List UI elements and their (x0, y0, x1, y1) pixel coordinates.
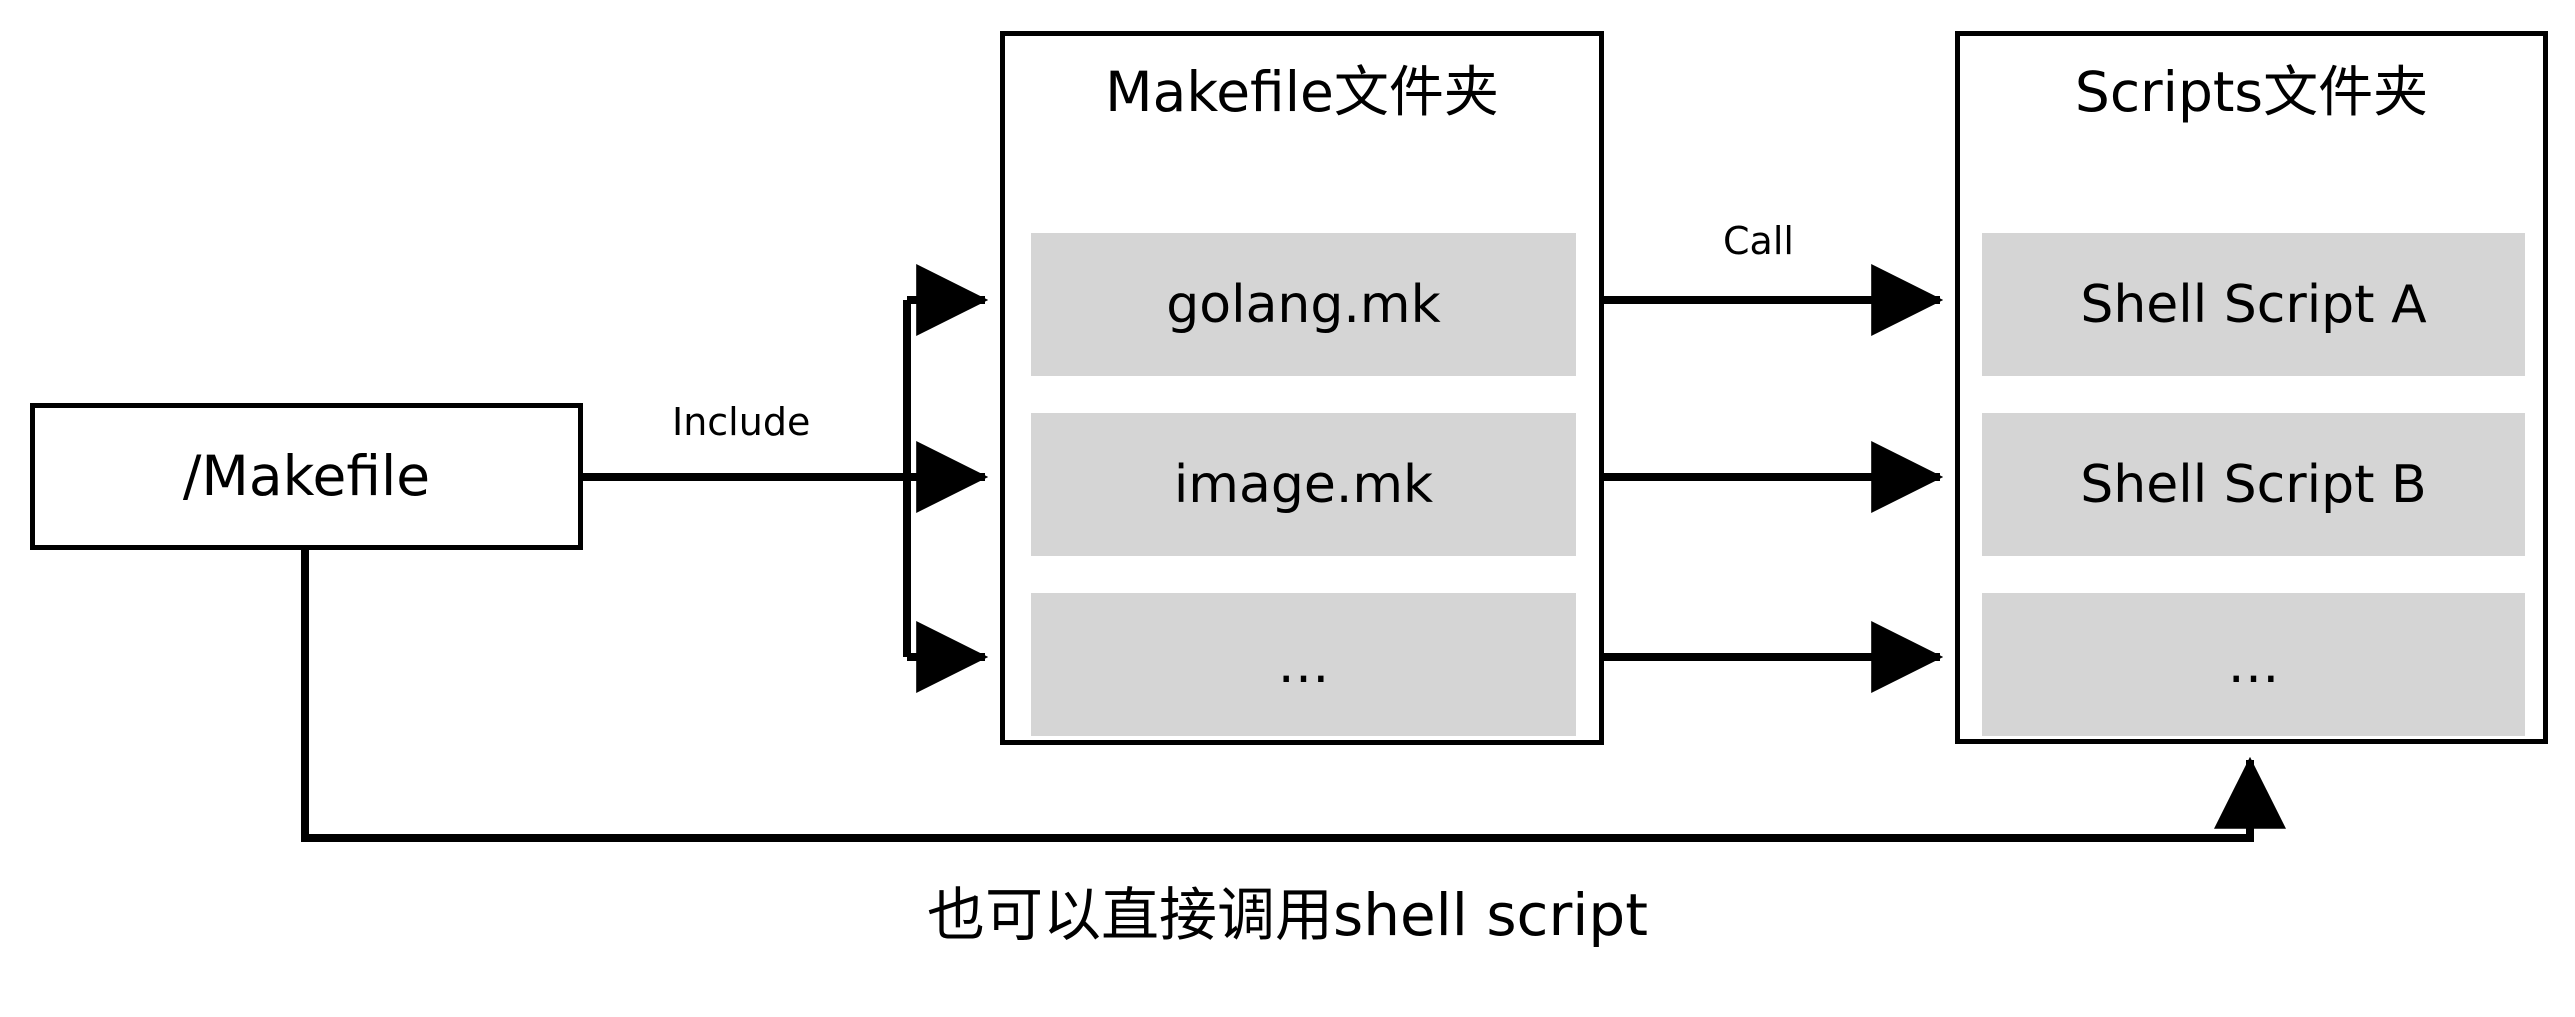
scripts-folder-title: Scripts文件夹 (1960, 62, 2543, 123)
scripts-folder-item: Shell Script B (1982, 413, 2525, 556)
include-edge-label: Include (672, 403, 810, 441)
diagram-caption: 也可以直接调用shell script (0, 884, 2575, 948)
makefile-folder-item: … (1031, 593, 1576, 736)
call-edge-label: Call (1723, 222, 1794, 260)
makefile-folder-container: Makefile文件夹 golang.mk image.mk … (1000, 31, 1604, 745)
scripts-folder-item: … (1982, 593, 2525, 736)
makefile-folder-title: Makefile文件夹 (1005, 62, 1599, 123)
diagram-canvas: /Makefile Makefile文件夹 golang.mk image.mk… (0, 0, 2575, 1017)
makefile-folder-item: image.mk (1031, 413, 1576, 556)
makefile-folder-item: golang.mk (1031, 233, 1576, 376)
scripts-folder-item: Shell Script A (1982, 233, 2525, 376)
makefile-root-label: /Makefile (183, 449, 430, 504)
makefile-root-node: /Makefile (30, 403, 583, 550)
scripts-folder-container: Scripts文件夹 Shell Script A Shell Script B… (1955, 31, 2548, 744)
